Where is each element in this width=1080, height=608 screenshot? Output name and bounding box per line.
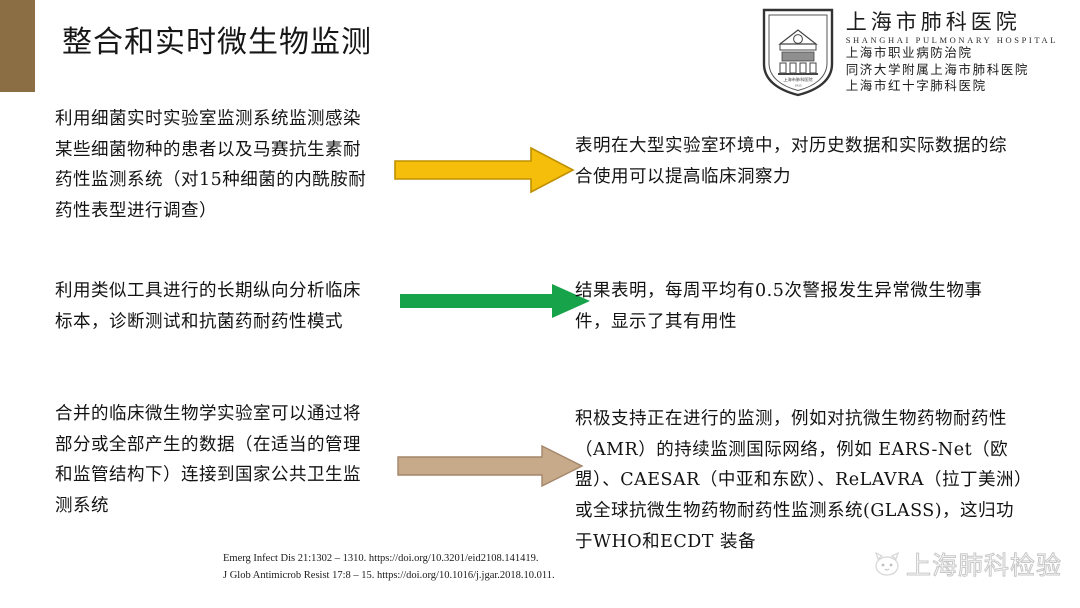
footnote-line-1: Emerg Infect Dis 21:1302 – 1310. https:/… [223,551,555,568]
hospital-subname-2: 同济大学附属上海市肺科医院 [846,62,1029,79]
green-arrow-icon [400,283,590,319]
row-3-right-text: 积极支持正在进行的监测，例如对抗微生物药物耐药性（AMR）的持续监测国际网络，例… [575,404,1025,557]
yellow-arrow-icon [393,145,575,195]
footnote-references: Emerg Infect Dis 21:1302 – 1310. https:/… [223,551,555,585]
svg-text:上海市肺科医院: 上海市肺科医院 [783,76,813,83]
title-accent-bar [0,0,35,92]
row-1-left-text: 利用细菌实时实验室监测系统监测感染某些细菌物种的患者以及马赛抗生素耐药性监测系统… [55,104,375,227]
footnote-line-2: J Glob Antimicrob Resist 17:8 – 15. http… [223,568,555,585]
hospital-name-cn: 上海市肺科医院 [846,10,1021,34]
hospital-subname-1: 上海市职业病防治院 [846,45,973,62]
row-2-left-text: 利用类似工具进行的长期纵向分析临床标本，诊断测试和抗菌药耐药性模式 [55,276,375,337]
page-title: 整合和实时微生物监测 [62,24,372,62]
row-2-right-text: 结果表明，每周平均有0.5次警报发生异常微生物事件，显示了其有用性 [575,276,1010,337]
hospital-shield-icon: 上海市肺科医院 1933 [760,6,836,98]
tan-arrow-icon [396,443,584,489]
svg-text:1933: 1933 [794,84,801,88]
hospital-subname-3: 上海市红十字肺科医院 [846,78,987,95]
slide-canvas: 整合和实时微生物监测 上海市肺科医院 1933 上海市肺科医院 SHANGHAI… [0,0,1080,608]
row-1-right-text: 表明在大型实验室环境中，对历史数据和实际数据的综合使用可以提高临床洞察力 [575,131,1010,192]
hospital-name-en: SHANGHAI PULMONARY HOSPITAL [846,35,1058,45]
hospital-logo: 上海市肺科医院 1933 上海市肺科医院 SHANGHAI PULMONARY … [760,6,1058,98]
row-3-left-text: 合并的临床微生物学实验室可以通过将部分或全部产生的数据（在适当的管理和监管结构下… [55,399,375,522]
hospital-logo-text: 上海市肺科医院 SHANGHAI PULMONARY HOSPITAL 上海市职… [846,6,1058,95]
